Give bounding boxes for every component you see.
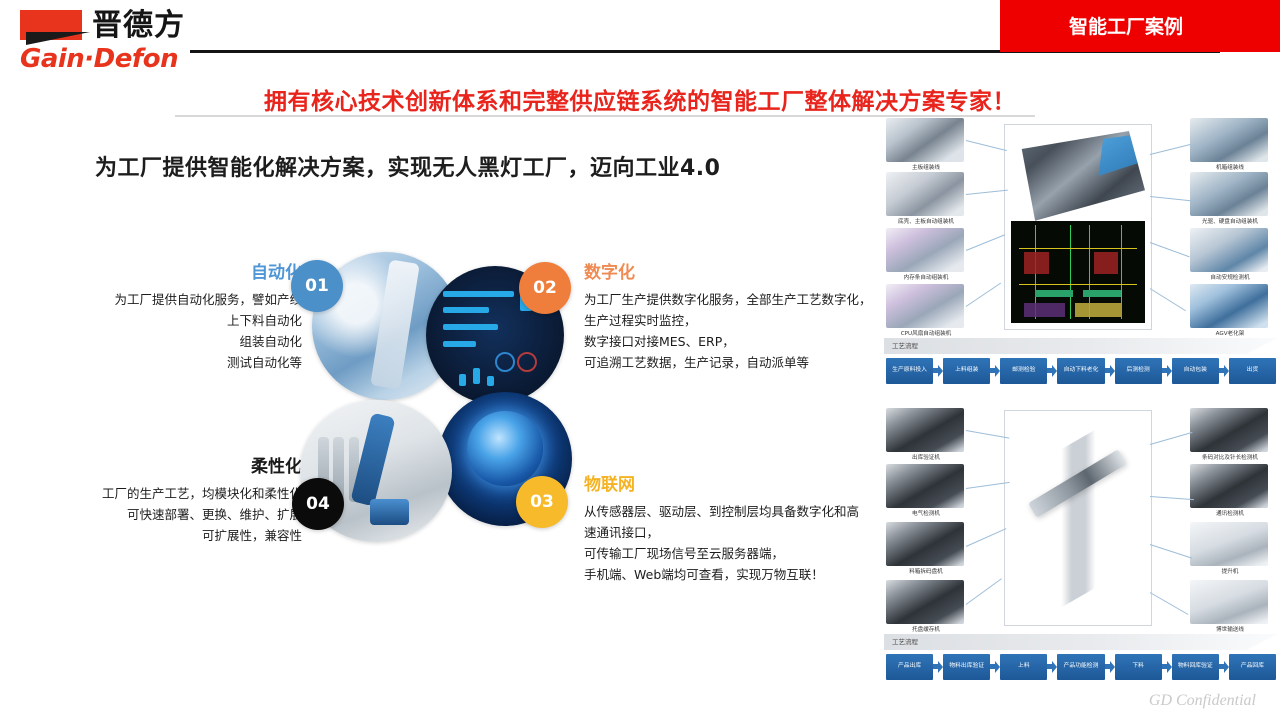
machine-b-right-4-label: 博世输送线 — [1190, 626, 1270, 634]
quadrant-digitalization-line-1: 为工厂生产提供数字化服务，全部生产工艺数字化， — [584, 289, 894, 310]
machine-b-right-1-image — [1190, 408, 1268, 452]
flow-step[interactable]: 物料出库验证 — [943, 654, 990, 680]
flow-step[interactable]: 自动下料老化 — [1057, 358, 1104, 384]
process-flow-top-band-label: 工艺流程 — [892, 340, 918, 350]
title-divider — [175, 115, 1035, 117]
machine-right-1: 机箱组装线 — [1190, 118, 1270, 172]
leader-line — [966, 234, 1005, 251]
machine-b-right-3-image — [1190, 522, 1268, 566]
leader-line — [966, 283, 1001, 307]
flow-step[interactable]: 自动包装 — [1172, 358, 1219, 384]
quadrant-automation-line-2: 上下料自动化 — [30, 310, 302, 331]
process-flow-bottom: 工艺流程 产品出库 物料出库验证 上料 产品功能检测 下料 物料回库验证 产品回… — [884, 634, 1278, 686]
leader-line — [1150, 592, 1189, 615]
machine-b-left-2-label: 电气检测机 — [886, 510, 966, 518]
flow-arrow-icon — [1219, 365, 1229, 377]
machine-b-left-4: 托盘缓存机 — [886, 580, 966, 634]
machine-right-3-label: 自动安规检测机 — [1190, 274, 1270, 282]
flow-arrow-icon — [1219, 661, 1229, 673]
flow-step[interactable]: 物料回库验证 — [1172, 654, 1219, 680]
diagram-assembly-line: 主板组装线 底壳、主板自动组装机 内存条自动组装机 CPU风扇自动组装机 机箱组… — [884, 118, 1278, 390]
quadrant-flexibility-heading: 柔性化 — [20, 452, 302, 477]
flow-arrow-icon — [1162, 661, 1172, 673]
leader-line — [966, 578, 1002, 605]
quadrant-iot-line-1: 从传感器层、驱动层、到控制层均具备数字化和高 — [584, 501, 904, 522]
process-flow-bottom-band: 工艺流程 — [884, 634, 1278, 650]
quadrant-digitalization-line-2: 生产过程实时监控， — [584, 310, 894, 331]
flow-arrow-icon — [990, 365, 1000, 377]
process-flow-bottom-band-label: 工艺流程 — [892, 636, 918, 646]
quadrant-iot: 物联网 从传感器层、驱动层、到控制层均具备数字化和高 速通讯接口， 可传输工厂现… — [584, 470, 904, 585]
flow-step[interactable]: 产品回库 — [1229, 654, 1276, 680]
flow-step[interactable]: 后测检测 — [1115, 358, 1162, 384]
machine-right-2-image — [1190, 172, 1268, 216]
flow-arrow-icon — [933, 365, 943, 377]
flow-step[interactable]: 产品出库 — [886, 654, 933, 680]
flow-arrow-icon — [1047, 365, 1057, 377]
confidential-watermark: GD Confidential — [1149, 692, 1256, 710]
slide-root: 晋德方 Gain·Defon 智能工厂案例 拥有核心技术创新体系和完整供应链系统… — [0, 0, 1280, 720]
flow-step[interactable]: 上料 — [1000, 654, 1047, 680]
leader-line — [1150, 144, 1191, 155]
machine-left-4: CPU风扇自动组装机 — [886, 284, 966, 338]
flow-arrow-icon — [990, 661, 1000, 673]
factory-layout-isometric — [1011, 131, 1145, 221]
machine-b-right-1-label: 条码对比及针长检测机 — [1190, 454, 1270, 462]
flow-arrow-icon — [1162, 365, 1172, 377]
process-flow-top-steps: 生产原料投入 上料组装 邮测检验 自动下料老化 后测检测 自动包装 出货 — [886, 358, 1276, 384]
machine-left-1-label: 主板组装线 — [886, 164, 966, 172]
machine-b-left-1-image — [886, 408, 964, 452]
leader-line — [1150, 496, 1194, 500]
flow-step[interactable]: 邮测检验 — [1000, 358, 1047, 384]
flow-step[interactable]: 产品功能检测 — [1057, 654, 1104, 680]
center-collage: 01 02 03 04 — [292, 252, 574, 542]
corner-badge: 智能工厂案例 — [1000, 0, 1280, 52]
factory-layout-cad — [1011, 221, 1145, 323]
corner-badge-label: 智能工厂案例 — [1000, 12, 1252, 39]
machine-left-4-label: CPU风扇自动组装机 — [886, 330, 966, 338]
machine-b-left-3-image — [886, 522, 964, 566]
machine-b-left-1-label: 出库验证机 — [886, 454, 966, 462]
quadrant-flexibility-line-1: 工厂的生产工艺，均模块化和柔性化 — [20, 483, 302, 504]
quadrant-digitalization: 数字化 为工厂生产提供数字化服务，全部生产工艺数字化， 生产过程实时监控， 数字… — [584, 258, 894, 373]
machine-b-right-2: 通讯检测机 — [1190, 464, 1270, 518]
machine-right-2-label: 光驱、硬盘自动组装机 — [1190, 218, 1270, 226]
machine-right-1-image — [1190, 118, 1268, 162]
machine-b-left-4-label: 托盘缓存机 — [886, 626, 966, 634]
quadrant-automation-line-1: 为工厂提供自动化服务，譬如产线 — [30, 289, 302, 310]
leader-line — [1150, 242, 1190, 257]
quadrant-flexibility-line-3: 可扩展性，兼容性 — [20, 525, 302, 546]
machine-b-right-4: 博世输送线 — [1190, 580, 1270, 634]
quadrant-flexibility-line-2: 可快速部署、更换、维护、扩展 — [20, 504, 302, 525]
flow-arrow-icon — [1105, 661, 1115, 673]
logo-chinese-name: 晋德方 — [92, 8, 185, 44]
diagram-bottom-canvas — [1004, 410, 1152, 626]
machine-right-2: 光驱、硬盘自动组装机 — [1190, 172, 1270, 226]
leader-line — [966, 528, 1007, 547]
badge-04[interactable]: 04 — [292, 478, 344, 530]
quadrant-automation-line-3: 组装自动化 — [30, 331, 302, 352]
machine-left-3: 内存条自动组装机 — [886, 228, 966, 282]
machine-right-4: AGV老化架 — [1190, 284, 1270, 338]
leader-line — [1150, 196, 1192, 201]
diagram-conveyor-line: 出库验证机 电气检测机 料箱拆码盘机 托盘缓存机 条码对比及针长检测机 通讯检测… — [884, 404, 1278, 686]
machine-b-left-3-label: 料箱拆码盘机 — [886, 568, 966, 576]
process-flow-bottom-steps: 产品出库 物料出库验证 上料 产品功能检测 下料 物料回库验证 产品回库 — [886, 654, 1276, 680]
quadrant-digitalization-line-3: 数字接口对接MES、ERP， — [584, 331, 894, 352]
page-subtitle: 为工厂提供智能化解决方案，实现无人黑灯工厂，迈向工业4.0 — [95, 150, 720, 182]
flow-arrow-icon — [1047, 661, 1057, 673]
company-logo: 晋德方 Gain·Defon — [20, 8, 190, 74]
process-flow-top: 工艺流程 生产原料投入 上料组装 邮测检验 自动下料老化 后测检测 自动包装 出… — [884, 338, 1278, 390]
machine-b-left-3: 料箱拆码盘机 — [886, 522, 966, 576]
machine-b-right-2-label: 通讯检测机 — [1190, 510, 1270, 518]
leader-line — [966, 190, 1008, 195]
badge-01[interactable]: 01 — [291, 260, 343, 312]
page-title: 拥有核心技术创新体系和完整供应链系统的智能工厂整体解决方案专家！ — [0, 82, 1280, 116]
machine-b-right-2-image — [1190, 464, 1268, 508]
machine-b-right-4-image — [1190, 580, 1268, 624]
leader-line — [966, 430, 1010, 439]
machine-left-3-image — [886, 228, 964, 272]
machine-right-3: 自动安规检测机 — [1190, 228, 1270, 282]
quadrant-digitalization-heading: 数字化 — [584, 258, 894, 283]
machine-b-right-1: 条码对比及针长检测机 — [1190, 408, 1270, 462]
quadrant-iot-line-4: 手机端、Web端均可查看，实现万物互联！ — [584, 564, 904, 585]
machine-left-2-label: 底壳、主板自动组装机 — [886, 218, 966, 226]
machine-left-4-image — [886, 284, 964, 328]
flow-step[interactable]: 生产原料投入 — [886, 358, 933, 384]
machine-b-right-3-label: 提升机 — [1190, 568, 1270, 576]
machine-left-2-image — [886, 172, 964, 216]
leader-line — [1150, 432, 1193, 445]
quadrant-iot-line-3: 可传输工厂现场信号至云服务器端， — [584, 543, 904, 564]
leader-line — [966, 140, 1007, 151]
diagram-top-canvas — [1004, 124, 1152, 330]
machine-left-1-image — [886, 118, 964, 162]
machine-right-3-image — [1190, 228, 1268, 272]
flow-arrow-icon — [1105, 365, 1115, 377]
quadrant-iot-heading: 物联网 — [584, 470, 904, 495]
flow-step[interactable]: 下料 — [1115, 654, 1162, 680]
machine-left-3-label: 内存条自动组装机 — [886, 274, 966, 282]
quadrant-digitalization-line-4: 可追溯工艺数据，生产记录，自动派单等 — [584, 352, 894, 373]
logo-english-name: Gain·Defon — [20, 44, 178, 74]
machine-left-2: 底壳、主板自动组装机 — [886, 172, 966, 226]
badge-02[interactable]: 02 — [519, 262, 571, 314]
machine-left-1: 主板组装线 — [886, 118, 966, 172]
process-flow-top-band: 工艺流程 — [884, 338, 1278, 354]
leader-line — [1150, 288, 1186, 311]
machine-b-left-2-image — [886, 464, 964, 508]
machine-b-right-3: 提升机 — [1190, 522, 1270, 576]
quadrant-automation-heading: 自动化 — [30, 258, 302, 283]
machine-b-left-2: 电气检测机 — [886, 464, 966, 518]
quadrant-automation: 自动化 为工厂提供自动化服务，譬如产线 上下料自动化 组装自动化 测试自动化等 — [30, 258, 302, 373]
badge-03[interactable]: 03 — [516, 476, 568, 528]
flow-arrow-icon — [933, 661, 943, 673]
machine-right-1-label: 机箱组装线 — [1190, 164, 1270, 172]
quadrant-iot-line-2: 速通讯接口， — [584, 522, 904, 543]
quadrant-automation-line-4: 测试自动化等 — [30, 352, 302, 373]
flow-step[interactable]: 出货 — [1229, 358, 1276, 384]
machine-b-left-1: 出库验证机 — [886, 408, 966, 462]
conveyor-belt-shadow — [993, 429, 1163, 606]
machine-b-left-4-image — [886, 580, 964, 624]
machine-right-4-image — [1190, 284, 1268, 328]
quadrant-flexibility: 柔性化 工厂的生产工艺，均模块化和柔性化 可快速部署、更换、维护、扩展 可扩展性… — [20, 452, 302, 546]
machine-right-4-label: AGV老化架 — [1190, 330, 1270, 338]
flow-step[interactable]: 上料组装 — [943, 358, 990, 384]
